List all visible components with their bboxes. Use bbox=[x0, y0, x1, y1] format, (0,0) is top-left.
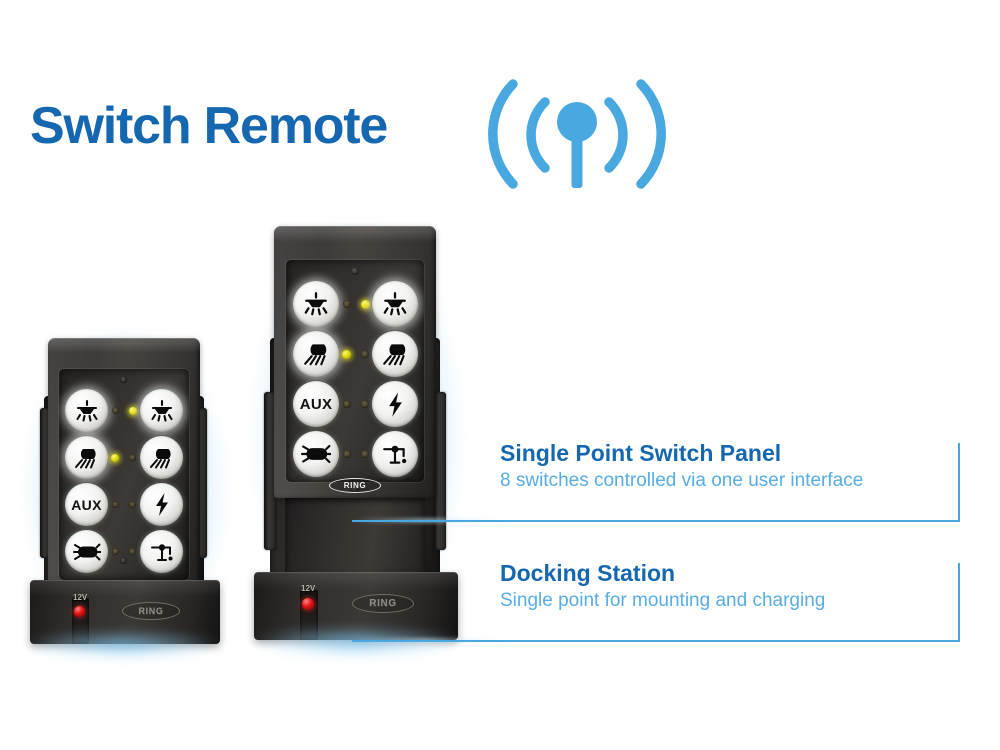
button-spot-light-left[interactable] bbox=[65, 436, 108, 479]
led-row3-left bbox=[343, 400, 351, 408]
handset-body[interactable]: AUX bbox=[48, 338, 200, 592]
led-row1-left bbox=[343, 300, 351, 308]
button-work-light-left[interactable] bbox=[65, 389, 108, 432]
led-row3-right bbox=[129, 501, 136, 508]
led-row1-right bbox=[361, 300, 370, 309]
device-small-remote: AUX bbox=[26, 322, 226, 652]
button-spot-light-right[interactable] bbox=[372, 331, 418, 377]
button-work-light-right[interactable] bbox=[372, 281, 418, 327]
button-faucet-tap[interactable] bbox=[140, 530, 183, 573]
brand-logo-base: RING bbox=[122, 602, 180, 620]
voltage-label: 12V bbox=[73, 594, 87, 602]
dock-base-slot bbox=[72, 598, 89, 644]
voltage-label: 12V bbox=[301, 585, 315, 593]
callout-title: Single Point Switch Panel bbox=[500, 440, 863, 467]
status-led-top bbox=[351, 267, 359, 275]
button-work-light-right[interactable] bbox=[140, 389, 183, 432]
keypad-panel: AUX bbox=[59, 369, 189, 580]
power-led bbox=[302, 598, 314, 610]
button-beacon-light[interactable] bbox=[65, 530, 108, 573]
callout-subtitle: Single point for mounting and charging bbox=[500, 589, 825, 614]
callout-docking-station: Docking Station Single point for mountin… bbox=[352, 560, 988, 645]
callout-subtitle: 8 switches controlled via one user inter… bbox=[500, 469, 863, 494]
led-row2-left bbox=[342, 350, 351, 359]
button-aux-label: AUX bbox=[71, 497, 101, 513]
leader-line bbox=[352, 640, 960, 642]
led-row2-right bbox=[361, 350, 369, 358]
led-row2-right bbox=[129, 454, 136, 461]
button-spot-light-left[interactable] bbox=[293, 331, 339, 377]
wireless-signal-icon bbox=[487, 72, 667, 197]
led-row3-right bbox=[361, 400, 369, 408]
dock-base-highlight bbox=[30, 580, 220, 597]
callout-switch-panel: Single Point Switch Panel 8 switches con… bbox=[352, 440, 988, 525]
button-beacon-light[interactable] bbox=[293, 431, 339, 477]
leader-line bbox=[352, 520, 960, 522]
button-work-light-left[interactable] bbox=[293, 281, 339, 327]
led-row4-left bbox=[343, 450, 351, 458]
dock-base: 12V RING bbox=[30, 580, 220, 644]
button-aux-label: AUX bbox=[300, 396, 333, 413]
power-led bbox=[74, 606, 85, 617]
brand-logo-base-text: RING bbox=[139, 606, 164, 616]
led-row4-left bbox=[112, 548, 119, 555]
led-row4-right bbox=[129, 548, 136, 555]
led-row1-left bbox=[112, 407, 119, 414]
status-led-top bbox=[120, 376, 127, 383]
led-row3-left bbox=[112, 501, 119, 508]
button-spot-light-right[interactable] bbox=[140, 436, 183, 479]
infographic-canvas: Switch Remote bbox=[0, 0, 1000, 750]
status-led-bottom bbox=[120, 557, 127, 564]
callout-bracket-vertical bbox=[958, 563, 960, 642]
button-lightning-bolt[interactable] bbox=[372, 381, 418, 427]
callout-bracket-vertical bbox=[958, 443, 960, 522]
led-row2-left bbox=[111, 454, 119, 462]
led-row1-right bbox=[129, 407, 137, 415]
button-aux[interactable]: AUX bbox=[65, 483, 108, 526]
button-lightning-bolt[interactable] bbox=[140, 483, 183, 526]
callout-title: Docking Station bbox=[500, 560, 825, 587]
page-title: Switch Remote bbox=[30, 96, 387, 156]
button-aux[interactable]: AUX bbox=[293, 381, 339, 427]
